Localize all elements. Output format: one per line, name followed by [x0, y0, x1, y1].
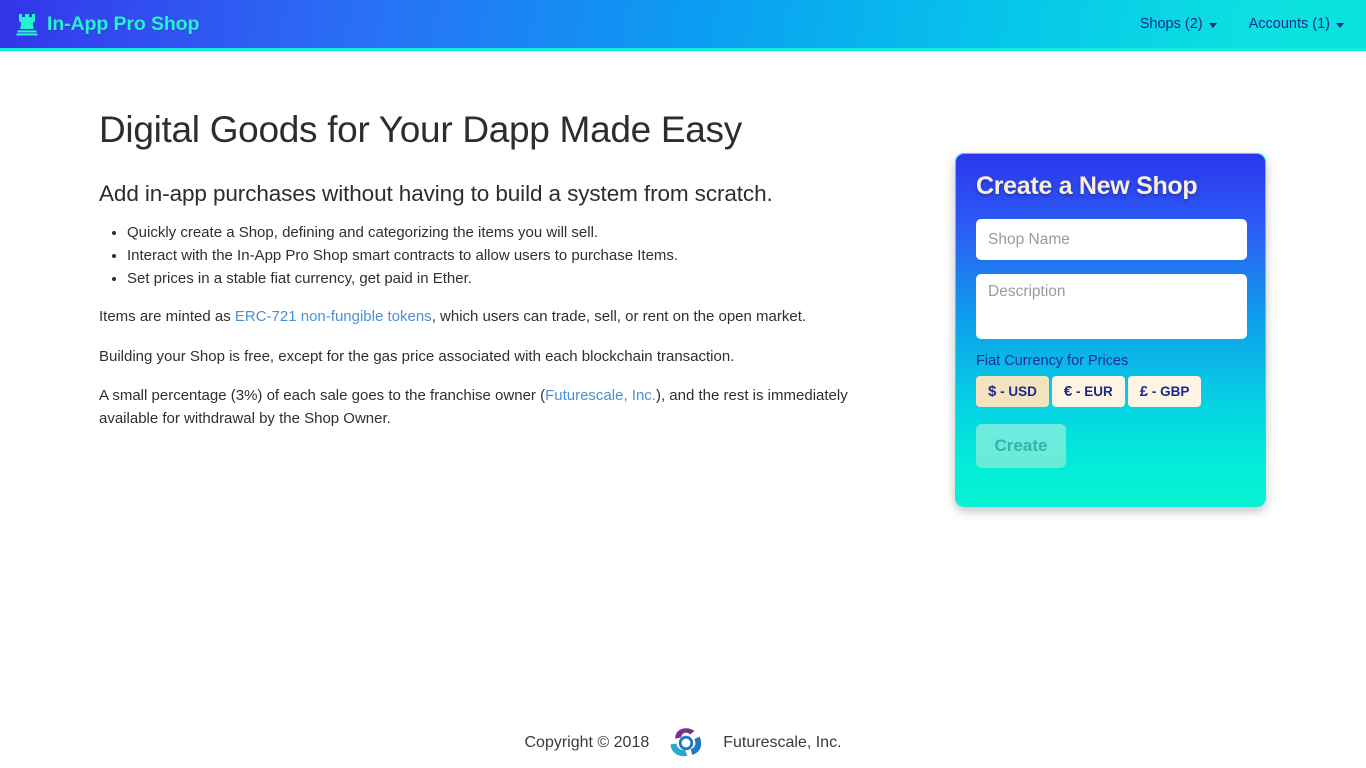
currency-label-gbp: GBP [1160, 384, 1189, 399]
paragraph-tokens: Items are minted as ERC-721 non-fungible… [99, 306, 889, 329]
shop-description-input[interactable] [976, 274, 1247, 339]
currency-code-eur: - [1072, 384, 1084, 399]
pound-sign-icon: £ [1140, 383, 1148, 400]
list-item: Set prices in a stable fiat currency, ge… [127, 267, 899, 290]
currency-label-eur: EUR [1084, 384, 1113, 399]
copyright-text: Copyright © 2018 [524, 734, 649, 752]
nav-item-shops[interactable]: Shops (2) [1140, 16, 1217, 32]
list-item: Interact with the In-App Pro Shop smart … [127, 244, 899, 267]
paragraph-text: , which users can trade, sell, or rent o… [432, 308, 806, 325]
euro-sign-icon: € [1064, 383, 1072, 400]
chevron-down-icon [1209, 23, 1217, 28]
top-navbar: In-App Pro Shop Shops (2) Accounts (1) [0, 0, 1366, 51]
feature-list: Quickly create a Shop, defining and cate… [99, 221, 899, 291]
paragraph-text: Building your Shop is free, except for t… [99, 348, 734, 365]
list-item: Quickly create a Shop, defining and cate… [127, 221, 899, 244]
currency-label: Fiat Currency for Prices [976, 353, 1245, 369]
paragraph-fees: A small percentage (3%) of each sale goe… [99, 385, 889, 430]
currency-button-gbp[interactable]: £ - GBP [1128, 376, 1202, 407]
nav-item-accounts-label: Accounts (1) [1249, 16, 1330, 32]
paragraph-text: Items are minted as [99, 308, 235, 325]
currency-button-usd[interactable]: $ - USD [976, 376, 1049, 407]
page-subtitle: Add in-app purchases without having to b… [99, 181, 899, 207]
nav-item-shops-label: Shops (2) [1140, 16, 1203, 32]
nav-item-accounts[interactable]: Accounts (1) [1249, 16, 1344, 32]
chess-rook-icon [16, 12, 38, 36]
currency-code-gbp: - [1148, 384, 1160, 399]
futurescale-swirl-logo [667, 724, 705, 762]
create-shop-button[interactable]: Create [976, 424, 1066, 468]
currency-button-group: $ - USD € - EUR £ - GBP [976, 376, 1245, 407]
chevron-down-icon [1336, 23, 1344, 28]
currency-code-usd: - [996, 384, 1008, 399]
paragraph-gas: Building your Shop is free, except for t… [99, 346, 889, 369]
currency-button-eur[interactable]: € - EUR [1052, 376, 1125, 407]
erc721-link[interactable]: ERC-721 non-fungible tokens [235, 308, 432, 325]
create-shop-title: Create a New Shop [976, 172, 1245, 201]
page-footer: Copyright © 2018 Futurescale, Inc. [0, 718, 1366, 768]
paragraph-text: A small percentage (3%) of each sale goe… [99, 387, 545, 404]
futurescale-link[interactable]: Futurescale, Inc. [545, 387, 656, 404]
currency-label-usd: USD [1008, 384, 1037, 399]
navbar-links: Shops (2) Accounts (1) [1140, 16, 1344, 32]
company-name: Futurescale, Inc. [723, 734, 841, 752]
shop-name-input[interactable] [976, 219, 1247, 260]
brand-title: In-App Pro Shop [47, 13, 199, 36]
page-title: Digital Goods for Your Dapp Made Easy [99, 110, 899, 151]
hero-section: Digital Goods for Your Dapp Made Easy Ad… [99, 110, 899, 430]
brand-home-link[interactable]: In-App Pro Shop [16, 12, 199, 36]
create-shop-card: Create a New Shop Fiat Currency for Pric… [955, 153, 1266, 507]
